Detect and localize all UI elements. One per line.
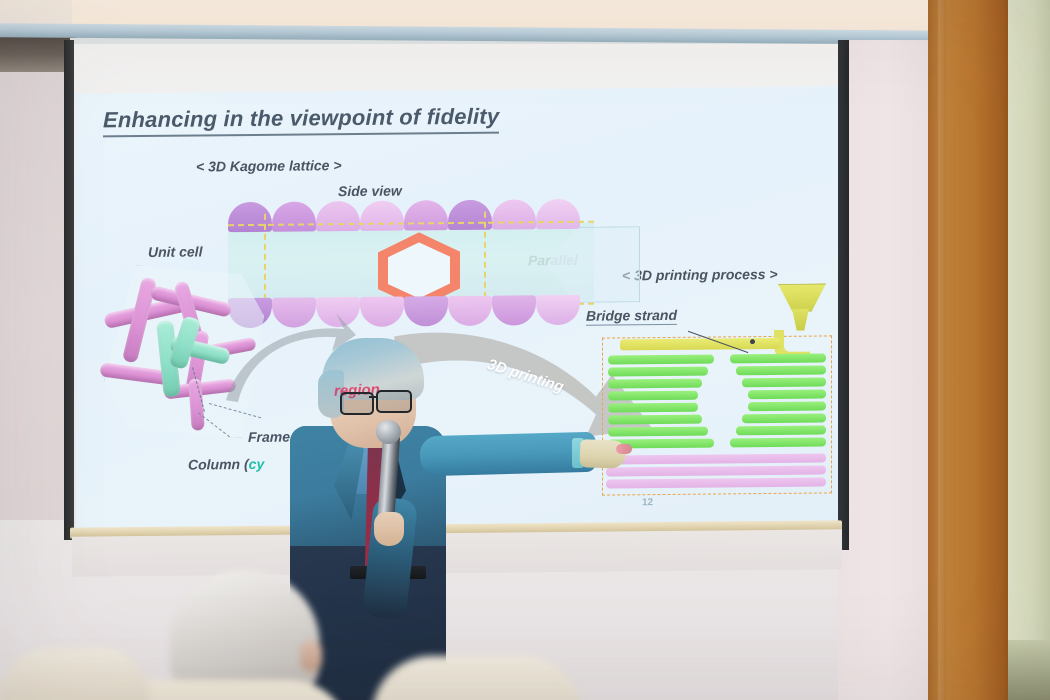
column-label-text: Column ( (188, 456, 249, 473)
bridge-strand-marker (750, 339, 755, 344)
printer-nozzle-icon (778, 283, 826, 311)
speaker-glasses-bridge (369, 396, 378, 398)
printed-layer-green (608, 379, 702, 389)
column-label-highlight: cy (249, 456, 265, 472)
printed-layer-green (608, 367, 708, 377)
printed-layer-green (742, 413, 826, 423)
column-label: Column (cy (188, 456, 264, 473)
lattice-bump-top (360, 201, 404, 231)
printing-section-heading: < 3D printing process > (622, 266, 778, 283)
bridge-strand-graphic (620, 338, 780, 351)
printed-layer-green (748, 401, 826, 411)
speaker-glasses-right-lens (376, 390, 412, 413)
printed-layer-green (608, 403, 698, 413)
printed-layer-green (730, 437, 826, 447)
printed-layer-green (730, 353, 826, 363)
kagome-section-heading: < 3D Kagome lattice > (196, 157, 342, 174)
printed-layer-green (736, 425, 826, 435)
screen-frame-right (838, 40, 849, 550)
lattice-bump-top (272, 201, 316, 231)
green-wall-strip (1008, 0, 1050, 700)
audience-member-left (0, 648, 150, 700)
audience-member-front (150, 560, 370, 700)
printed-layer-green (608, 355, 714, 365)
audience-ear (300, 640, 322, 672)
slide-title: Enhancing in the viewpoint of fidelity (103, 104, 499, 138)
presentation-photo-scene: Enhancing in the viewpoint of fidelity <… (0, 0, 1050, 700)
printing-process-diagram (602, 321, 832, 495)
lattice-bump-top (492, 199, 536, 229)
lattice-bump-top (536, 199, 580, 229)
unit-cell-label: Unit cell (148, 243, 202, 260)
audience-member-right (372, 656, 582, 700)
printed-layer-green (742, 377, 826, 387)
printed-layer-green (736, 365, 826, 375)
lattice-bump-top (316, 201, 360, 231)
printer-nozzle-tip-icon (792, 309, 809, 331)
speaker-fingertips (616, 444, 632, 454)
speaker-pointing-arm (420, 432, 597, 477)
speaker-hand-holding-mic (374, 512, 404, 546)
printed-layer-green (748, 389, 826, 399)
wooden-door-frame (928, 0, 1012, 700)
printed-layer-green (608, 415, 702, 425)
slide-page-number: 12 (642, 497, 653, 508)
side-view-label: Side view (338, 183, 402, 200)
lattice-bump-top (404, 200, 448, 230)
printed-layer-green (608, 391, 698, 401)
screen-frame-left (64, 40, 74, 540)
green-wall-strip-shadow (1008, 640, 1050, 700)
printed-layer-green (608, 427, 708, 437)
